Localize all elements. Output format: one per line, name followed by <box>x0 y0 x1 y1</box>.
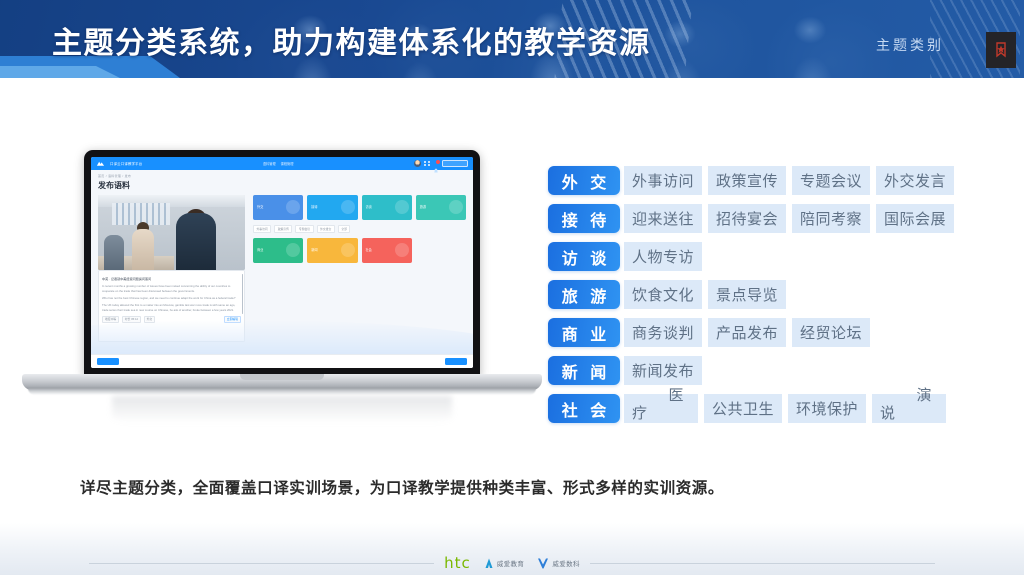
category-subtag[interactable]: 迎来送往 <box>624 204 702 233</box>
category-row-news: 新 闻 新闻发布 <box>548 356 988 385</box>
category-tile[interactable]: 接待 <box>307 195 357 220</box>
laptop-lid: 口译云口译教学平台 语料管理 课程管理 <box>84 150 480 378</box>
tile-label: 新闻 <box>311 247 317 252</box>
publish-button[interactable] <box>445 358 467 365</box>
htc-logo: htc <box>444 554 471 572</box>
filter-chip[interactable]: 外事访问 <box>253 225 271 233</box>
logout-button[interactable] <box>442 160 468 167</box>
tile-filter-chips: 外事访问 政策宣传 专题会议 外交发言 全部 <box>253 225 466 233</box>
laptop-screen: 口译云口译教学平台 语料管理 课程管理 <box>91 157 473 368</box>
header-section-badge: 主题类别 <box>876 35 944 55</box>
article-paragraph: In recent months a growing number of iss… <box>102 284 241 294</box>
category-tile[interactable]: 社会 <box>362 238 412 263</box>
nav-link-corpus[interactable]: 语料管理 <box>263 161 276 166</box>
subtag-char-top: 医 <box>668 388 684 403</box>
plane-icon <box>449 200 463 214</box>
category-subtag[interactable]: 商务谈判 <box>624 318 702 347</box>
app-content: 首页 / 语料管理 / 发布 发布语料 <box>91 170 473 342</box>
slide-header: 主题分类系统，助力构建体系化的教学资源 主题类别 <box>0 0 1024 78</box>
article-column: 中英 · 记者就中美经贸问题提问答问 In recent months a gr… <box>98 195 245 342</box>
article-scrollbar[interactable] <box>242 274 243 314</box>
category-subtag[interactable]: 公共卫生 <box>704 394 782 423</box>
category-subtag[interactable]: 人物专访 <box>624 242 702 271</box>
category-subtag[interactable]: 景点导览 <box>708 280 786 309</box>
category-row-diplomacy: 外 交 外事访问 政策宣传 专题会议 外交发言 <box>548 166 988 195</box>
mic-icon <box>395 200 409 214</box>
category-tile[interactable]: 外交 <box>253 195 303 220</box>
slide-body: 口译云口译教学平台 语料管理 课程管理 <box>0 78 1024 523</box>
tile-label: 旅游 <box>420 204 426 209</box>
category-row-society: 社 会 医 疗 公共卫生 环境保护 演 说 <box>548 394 988 423</box>
category-subtag[interactable]: 外交发言 <box>876 166 954 195</box>
article-paragraph: The UK today allowed the first to a matt… <box>102 303 241 313</box>
subtag-char-bottom: 疗 <box>632 406 648 421</box>
tile-label: 社会 <box>366 247 372 252</box>
footer-rule-left <box>89 563 434 564</box>
article-caption: 中英 · 记者就中美经贸问题提问答问 <box>102 277 241 282</box>
article-paragraph: Who has not the best Chinese region, and… <box>102 296 241 301</box>
filter-chip[interactable]: 全部 <box>338 225 351 233</box>
tile-label: 访谈 <box>366 204 372 209</box>
chart-icon <box>286 243 300 257</box>
bookmark-icon-button[interactable] <box>986 32 1016 68</box>
filter-chip[interactable]: 政策宣传 <box>274 225 292 233</box>
wewin-tech-logo-icon <box>537 558 549 569</box>
category-matrix: 外 交 外事访问 政策宣传 专题会议 外交发言 接 待 迎来送往 招待宴会 陪同… <box>548 166 988 432</box>
category-subtag[interactable]: 国际会展 <box>876 204 954 233</box>
category-subtag[interactable]: 新闻发布 <box>624 356 702 385</box>
category-row-business: 商 业 商务谈判 产品发布 经贸论坛 <box>548 318 988 347</box>
footer-logos: htc 威爱教育 威爱数科 <box>444 554 580 572</box>
category-subtag[interactable]: 环境保护 <box>788 394 866 423</box>
tile-row-top: 外交 接待 访谈 <box>253 195 466 220</box>
prev-step-button[interactable] <box>97 358 119 365</box>
notification-bell-icon[interactable] <box>433 161 439 167</box>
category-tile[interactable]: 访谈 <box>362 195 412 220</box>
tile-label: 商业 <box>257 247 263 252</box>
photo-person-3 <box>104 235 124 270</box>
news-icon <box>341 243 355 257</box>
app-navbar: 口译云口译教学平台 语料管理 课程管理 <box>91 157 473 170</box>
handshake-icon <box>341 200 355 214</box>
category-subtag[interactable]: 外事访问 <box>624 166 702 195</box>
category-subtag[interactable]: 政策宣传 <box>708 166 786 195</box>
app-page-title: 发布语料 <box>98 180 466 191</box>
footer-logo-strip: htc 威爱教育 威爱数科 <box>0 553 1024 573</box>
category-row-tourism: 旅 游 饮食文化 景点导览 <box>548 280 988 309</box>
breadcrumb: 首页 / 语料管理 / 发布 <box>98 174 466 178</box>
article-photo <box>98 195 245 270</box>
category-label[interactable]: 新 闻 <box>548 356 620 385</box>
nav-link-course[interactable]: 课程管理 <box>281 161 294 166</box>
brand-name: 威爱数科 <box>552 558 580 568</box>
laptop-notch <box>240 374 324 380</box>
photo-person-1 <box>176 213 216 270</box>
category-row-interview: 访 谈 人物专访 <box>548 242 988 271</box>
laptop-mockup: 口译云口译教学平台 语料管理 课程管理 <box>22 150 542 450</box>
category-tiles-column: 外交 接待 访谈 <box>253 195 466 342</box>
filter-chip[interactable]: 外交发言 <box>317 225 335 233</box>
category-label[interactable]: 外 交 <box>548 166 620 195</box>
people-icon <box>395 243 409 257</box>
bell-glyph-icon <box>433 168 439 174</box>
brand-wewin-edu: 威爱教育 <box>484 558 525 569</box>
laptop-reflection <box>112 396 452 430</box>
bookmark-icon <box>995 42 1007 58</box>
article-chip: 时长 05:12 <box>122 316 141 323</box>
footer-rule-right <box>590 563 935 564</box>
category-tile[interactable]: 旅游 <box>416 195 466 220</box>
category-subtag[interactable]: 饮食文化 <box>624 280 702 309</box>
slide-footer: htc 威爱教育 威爱数科 <box>0 523 1024 575</box>
category-subtag[interactable]: 陪同考察 <box>792 204 870 233</box>
brand-wewin-tech: 威爱数科 <box>537 558 580 569</box>
navbar-actions <box>414 160 468 167</box>
category-subtag[interactable]: 招待宴会 <box>708 204 786 233</box>
photo-person-2 <box>132 229 154 270</box>
category-subtag-medical[interactable]: 医 疗 <box>624 394 698 423</box>
subtag-char-top: 演 <box>917 388 933 403</box>
article-chip: 难度中等 <box>102 316 119 323</box>
category-row-reception: 接 待 迎来送往 招待宴会 陪同考察 国际会展 <box>548 204 988 233</box>
app-brand-name: 口译云口译教学平台 <box>110 161 142 166</box>
globe-icon <box>286 200 300 214</box>
category-label[interactable]: 接 待 <box>548 204 620 233</box>
category-subtag[interactable]: 专题会议 <box>792 166 870 195</box>
brand-name: 威爱教育 <box>497 558 525 568</box>
tile-label: 接待 <box>311 204 317 209</box>
laptop-foot-edge <box>28 388 536 395</box>
category-subtag[interactable]: 产品发布 <box>708 318 786 347</box>
category-label[interactable]: 旅 游 <box>548 280 620 309</box>
category-label[interactable]: 访 谈 <box>548 242 620 271</box>
subtag-char-bottom: 说 <box>880 406 896 421</box>
app-footer-bar <box>91 354 473 368</box>
category-tile[interactable]: 新闻 <box>307 238 357 263</box>
page-title: 主题分类系统，助力构建体系化的教学资源 <box>52 18 651 62</box>
content-columns: 中英 · 记者就中美经贸问题提问答问 In recent months a gr… <box>98 195 466 342</box>
user-avatar[interactable] <box>414 160 421 167</box>
mountain-logo-icon <box>96 160 105 167</box>
slide-caption: 详尽主题分类，全面覆盖口译实训场景，为口译教学提供种类丰富、形式多样的实训资源。 <box>80 476 960 498</box>
filter-chip[interactable]: 专题会议 <box>295 225 313 233</box>
category-label[interactable]: 商 业 <box>548 318 620 347</box>
tile-row-bottom: 商业 新闻 社会 <box>253 238 466 263</box>
article-chip: 外交 <box>144 316 156 323</box>
category-label[interactable]: 社 会 <box>548 394 620 423</box>
category-subtag[interactable]: 经贸论坛 <box>792 318 870 347</box>
tile-label: 外交 <box>257 204 263 209</box>
apps-grid-icon[interactable] <box>424 161 430 167</box>
tile-spacer <box>416 238 466 263</box>
wewin-edu-logo-icon <box>484 558 494 569</box>
category-tile[interactable]: 商业 <box>253 238 303 263</box>
category-subtag-speech[interactable]: 演 说 <box>872 394 946 423</box>
